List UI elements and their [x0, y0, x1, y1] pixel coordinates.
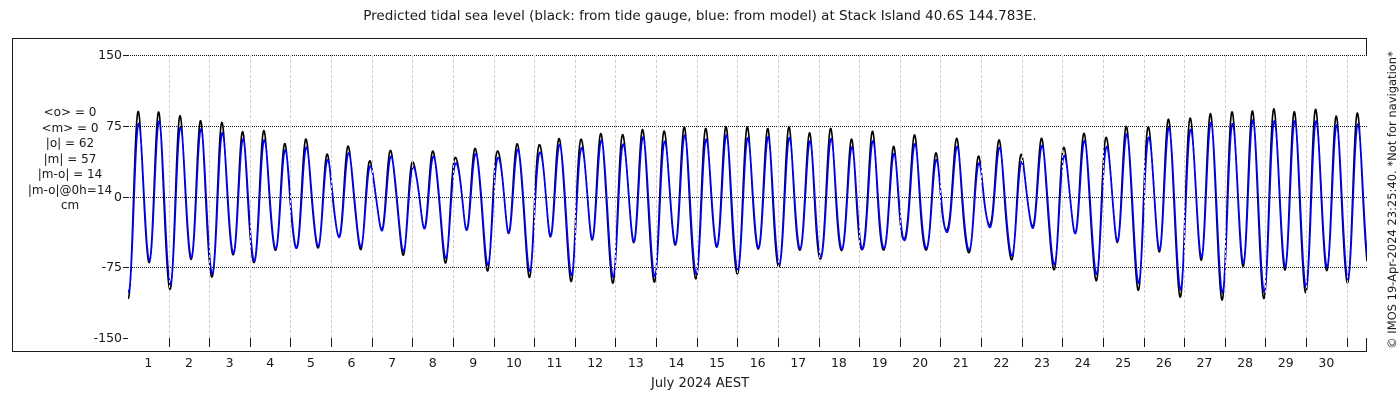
x-axis-tick-label: 25 — [1115, 355, 1131, 370]
x-axis-tick-mark — [534, 338, 535, 347]
vertical-gridline — [169, 55, 170, 338]
y-axis-tick-mark — [123, 126, 128, 127]
x-axis-tick-mark — [209, 338, 210, 347]
vertical-gridline — [615, 55, 616, 338]
x-axis-tick-label: 5 — [307, 355, 315, 370]
horizontal-gridline — [128, 267, 1367, 268]
vertical-gridline — [981, 55, 982, 338]
x-axis-tick-label: 22 — [993, 355, 1009, 370]
y-axis-tick-mark — [123, 197, 128, 198]
x-axis-tick-mark — [453, 338, 454, 347]
x-axis-tick-label: 27 — [1197, 355, 1213, 370]
vertical-gridline — [940, 55, 941, 338]
x-axis-tick-label: 16 — [750, 355, 766, 370]
y-axis-tick-label: -150 — [0, 330, 122, 345]
x-axis-tick-mark — [1225, 338, 1226, 347]
y-axis-tick-mark — [123, 55, 128, 56]
x-axis-tick-label: 29 — [1278, 355, 1294, 370]
x-axis-tick-label: 12 — [587, 355, 603, 370]
x-axis-tick-label: 26 — [1156, 355, 1172, 370]
vertical-gridline — [290, 55, 291, 338]
x-axis-tick-mark — [778, 338, 779, 347]
x-axis-tick-label: 28 — [1237, 355, 1253, 370]
vertical-gridline — [1306, 55, 1307, 338]
x-axis-tick-mark — [1144, 338, 1145, 347]
vertical-gridline — [1347, 55, 1348, 338]
y-axis-tick-mark — [123, 267, 128, 268]
x-axis-tick-mark — [169, 338, 170, 347]
vertical-gridline — [697, 55, 698, 338]
x-axis-tick-mark — [1184, 338, 1185, 347]
x-axis-tick-label: 21 — [953, 355, 969, 370]
copyright-notice: © IMOS 19-Apr-2024 23:25:40. *Not for na… — [1382, 0, 1400, 400]
vertical-gridline — [453, 55, 454, 338]
horizontal-gridline — [128, 197, 1367, 198]
x-axis-tick-mark — [250, 338, 251, 347]
vertical-gridline — [372, 55, 373, 338]
x-axis-tick-mark — [656, 338, 657, 347]
plot-area — [128, 55, 1367, 338]
x-axis-tick-label: 2 — [185, 355, 193, 370]
stats-line: |m-o| = 14 — [14, 167, 126, 183]
x-axis-tick-label: 14 — [668, 355, 684, 370]
vertical-gridline — [575, 55, 576, 338]
x-axis-tick-mark — [981, 338, 982, 347]
x-axis-tick-mark — [372, 338, 373, 347]
x-axis-tick-label: 18 — [831, 355, 847, 370]
x-axis-tick-label: 19 — [872, 355, 888, 370]
page-title: Predicted tidal sea level (black: from t… — [0, 8, 1400, 24]
x-axis-tick-mark — [412, 338, 413, 347]
x-axis-tick-label: 11 — [547, 355, 563, 370]
x-axis-tick-label: 24 — [1075, 355, 1091, 370]
x-axis-tick-label: 17 — [790, 355, 806, 370]
x-axis-tick-mark — [859, 338, 860, 347]
x-axis-tick-label: 4 — [266, 355, 274, 370]
vertical-gridline — [819, 55, 820, 338]
x-axis-tick-mark — [615, 338, 616, 347]
vertical-gridline — [412, 55, 413, 338]
x-axis-tick-label: 1 — [144, 355, 152, 370]
vertical-gridline — [1103, 55, 1104, 338]
plot-area-wrapper — [128, 55, 1367, 338]
x-axis-tick-label: 20 — [912, 355, 928, 370]
vertical-gridline — [900, 55, 901, 338]
x-axis-tick-label: 6 — [347, 355, 355, 370]
x-axis-tick-label: 10 — [506, 355, 522, 370]
x-axis-tick-mark — [494, 338, 495, 347]
vertical-gridline — [859, 55, 860, 338]
x-axis-tick-mark — [819, 338, 820, 347]
x-axis-tick-label: 13 — [628, 355, 644, 370]
vertical-gridline — [250, 55, 251, 338]
y-axis-tick-label: 150 — [0, 47, 122, 62]
x-axis-tick-label: 23 — [1034, 355, 1050, 370]
vertical-gridline — [778, 55, 779, 338]
y-axis-tick-label: 75 — [0, 118, 122, 133]
x-axis-tick-label: 30 — [1318, 355, 1334, 370]
x-axis-tick-mark — [900, 338, 901, 347]
x-axis-tick-mark — [1022, 338, 1023, 347]
x-axis-tick-mark — [737, 338, 738, 347]
x-axis-tick-mark — [331, 338, 332, 347]
x-axis-tick-mark — [1103, 338, 1104, 347]
vertical-gridline — [1184, 55, 1185, 338]
x-axis-tick-label: 9 — [469, 355, 477, 370]
x-axis-tick-mark — [1306, 338, 1307, 347]
horizontal-gridline — [128, 55, 1367, 56]
stats-line: |m| = 57 — [14, 152, 126, 168]
x-axis-tick-mark — [1265, 338, 1266, 347]
vertical-gridline — [209, 55, 210, 338]
vertical-gridline — [1062, 55, 1063, 338]
x-axis-tick-label: 3 — [226, 355, 234, 370]
vertical-gridline — [534, 55, 535, 338]
x-axis-tick-mark — [697, 338, 698, 347]
x-axis-title: July 2024 AEST — [0, 376, 1400, 391]
vertical-gridline — [737, 55, 738, 338]
y-axis-tick-label: -75 — [0, 259, 122, 274]
vertical-gridline — [656, 55, 657, 338]
x-axis-tick-label: 8 — [429, 355, 437, 370]
vertical-gridline — [494, 55, 495, 338]
x-axis-tick-mark — [940, 338, 941, 347]
y-axis-tick-mark — [123, 338, 128, 339]
x-axis-tick-label: 15 — [709, 355, 725, 370]
x-axis-tick-mark — [575, 338, 576, 347]
horizontal-gridline — [128, 126, 1367, 127]
tidal-chart-page: Predicted tidal sea level (black: from t… — [0, 0, 1400, 400]
vertical-gridline — [1265, 55, 1266, 338]
x-axis-tick-mark — [1347, 338, 1348, 347]
x-axis-tick-mark — [290, 338, 291, 347]
copyright-text: © IMOS 19-Apr-2024 23:25:40. *Not for na… — [1385, 51, 1399, 349]
y-axis-tick-label: 0 — [0, 189, 122, 204]
vertical-gridline — [331, 55, 332, 338]
x-axis-tick-label: 7 — [388, 355, 396, 370]
vertical-gridline — [1022, 55, 1023, 338]
vertical-gridline — [1225, 55, 1226, 338]
stats-line: |o| = 62 — [14, 136, 126, 152]
x-axis-tick-mark — [1062, 338, 1063, 347]
vertical-gridline — [1144, 55, 1145, 338]
